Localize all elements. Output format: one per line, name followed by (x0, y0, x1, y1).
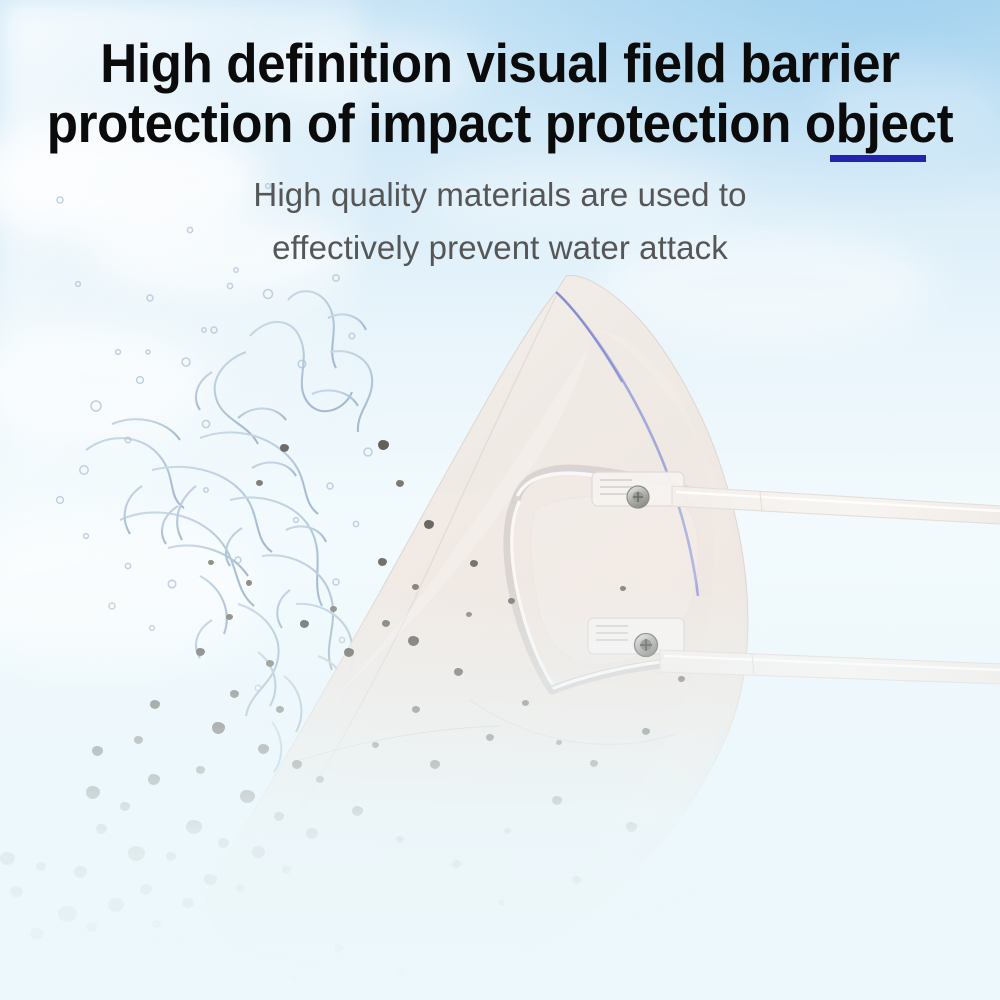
debris-rock (396, 480, 404, 487)
debris-rock (280, 444, 289, 452)
debris-rock (470, 560, 478, 567)
page-headline: High definition visual field barrier pro… (35, 33, 965, 153)
product-marketing-poster: High definition visual field barrier pro… (0, 0, 1000, 1000)
debris-rock (424, 520, 434, 529)
headline-accent-bar (830, 155, 926, 162)
debris-rock (256, 480, 263, 486)
debris-rock (378, 440, 389, 450)
bottom-fade-overlay (0, 580, 1000, 1000)
page-subtitle: High quality materials are used to effec… (0, 168, 1000, 274)
debris-rock (208, 560, 214, 565)
debris-rock (378, 558, 387, 566)
